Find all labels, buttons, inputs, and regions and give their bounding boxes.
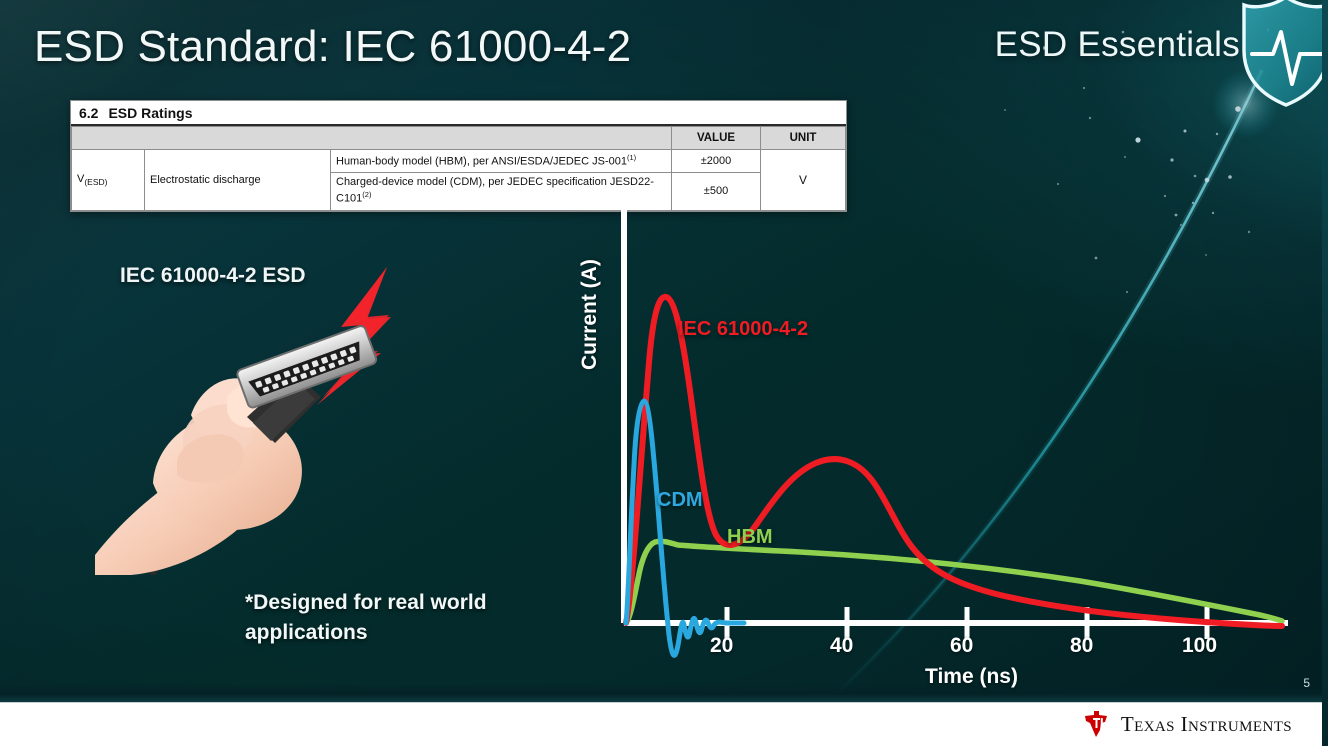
series-label-hbm: HBM (727, 526, 773, 549)
hbm-value: ±2000 (672, 150, 761, 173)
right-edge-accent (1322, 0, 1328, 746)
y-axis-label: Current (A) (578, 259, 602, 370)
design-note-line1: *Designed for real world (245, 588, 545, 618)
table-section-title: ESD Ratings (108, 105, 192, 121)
shield-pulse-icon (1240, 0, 1328, 110)
ti-word-nstruments: NSTRUMENTS (1188, 719, 1292, 735)
x-tick-label-80: 80 (1070, 634, 1093, 658)
header-value: VALUE (672, 127, 761, 150)
brand-label: ESD Essentials (995, 25, 1240, 65)
x-tick-label-60: 60 (950, 634, 973, 658)
texas-instruments-logo: TEXAS INSTRUMENTS (1081, 709, 1292, 739)
x-tick-label-40: 40 (830, 634, 853, 658)
slide: ESD Standard: IEC 61000-4-2 ESD Essentia… (0, 0, 1328, 746)
hand-holding-hdmi-connector-icon (95, 255, 435, 575)
table-section-number: 6.2 (79, 105, 98, 121)
x-axis-label: Time (ns) (925, 665, 1018, 689)
header-unit: UNIT (761, 127, 846, 150)
table-title: 6.2ESD Ratings (71, 101, 846, 126)
parameter-cell: Electrostatic discharge (145, 150, 331, 211)
ti-wordmark: TEXAS INSTRUMENTS (1121, 712, 1292, 737)
table-row: V(ESD) Electrostatic discharge Human-bod… (72, 150, 846, 173)
esd-waveform-chart (560, 195, 1320, 695)
x-tick-label-100: 100 (1182, 634, 1217, 658)
series-label-cdm: CDM (657, 489, 703, 512)
header-blank-cell (72, 127, 672, 150)
page-title: ESD Standard: IEC 61000-4-2 (34, 22, 631, 72)
symbol-cell: V(ESD) (72, 150, 145, 211)
iec-61000-4-2-curve (626, 297, 1282, 626)
series-label-iec: IEC 61000-4-2 (678, 318, 808, 341)
ti-texas-icon (1081, 709, 1111, 739)
ti-word-exas: EXAS (1134, 719, 1175, 735)
x-tick-label-20: 20 (710, 634, 733, 658)
page-number: 5 (1303, 676, 1310, 690)
design-note-line2: applications (245, 618, 545, 648)
table-header-row: VALUE UNIT (72, 127, 846, 150)
design-note: *Designed for real world applications (245, 588, 545, 649)
ti-word-t: T (1121, 712, 1134, 736)
hbm-footnote: (1) (627, 153, 636, 162)
description-cell-hbm: Human-body model (HBM), per ANSI/ESDA/JE… (331, 150, 672, 173)
ti-word-i: I (1181, 712, 1188, 736)
hbm-description: Human-body model (HBM), per ANSI/ESDA/JE… (336, 156, 627, 168)
symbol-subscript: (ESD) (84, 177, 107, 187)
cdm-footnote: (2) (362, 190, 371, 199)
